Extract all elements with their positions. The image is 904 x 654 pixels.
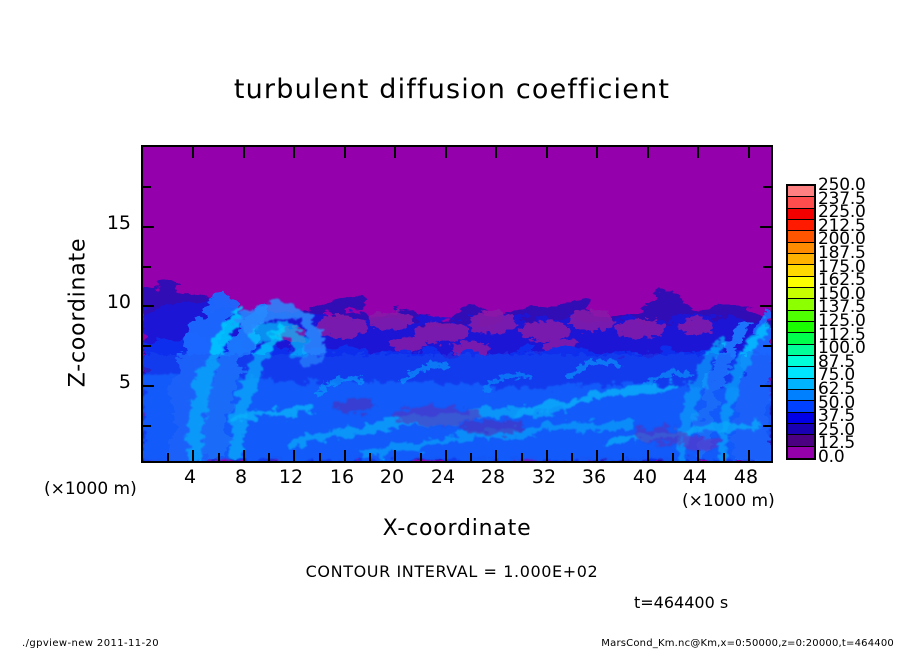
color-scale-swatch: [788, 401, 814, 412]
color-scale-swatch: [788, 220, 814, 231]
x-tick-top-12: [293, 147, 295, 158]
x-tick-minor-10: [268, 453, 270, 461]
color-scale-swatch: [788, 243, 814, 254]
x-tick-top-20: [394, 147, 396, 158]
z-tick-right-minor-2.5: [763, 425, 771, 427]
x-tick-minor-42: [672, 453, 674, 461]
color-scale-swatch: [788, 254, 814, 265]
x-tick-top-8: [243, 147, 245, 158]
contour-interval-note: CONTOUR INTERVAL = 1.000E+02: [0, 562, 904, 581]
x-tick-12: [293, 450, 295, 461]
color-scale-swatch: [788, 288, 814, 299]
x-tick-minor-34: [571, 453, 573, 461]
x-tick-minor-2: [167, 453, 169, 461]
page-title: turbulent diffusion coefficient: [0, 74, 904, 105]
x-tick-top-24: [445, 147, 447, 158]
x-tick-top-32: [546, 147, 548, 158]
x-tick-minor-14: [319, 453, 321, 461]
z-tick-15: [143, 226, 154, 228]
x-axis-tick-label: 48: [716, 466, 776, 488]
color-scale-swatch: [788, 277, 814, 288]
x-tick-top-40: [647, 147, 649, 158]
x-tick-28: [495, 450, 497, 461]
z-tick-right-10: [760, 305, 771, 307]
x-tick-36: [596, 450, 598, 461]
x-tick-top-28: [495, 147, 497, 158]
z-axis-unit: (×1000 m): [44, 479, 137, 499]
color-scale-swatch: [788, 299, 814, 310]
color-scale-swatch: [788, 322, 814, 333]
color-scale-swatch: [788, 435, 814, 446]
x-tick-20: [394, 450, 396, 461]
x-tick-minor-38: [622, 453, 624, 461]
x-axis-title: X-coordinate: [141, 516, 773, 541]
x-tick-top-16: [344, 147, 346, 158]
x-tick-8: [243, 450, 245, 461]
color-scale-bar: [786, 184, 816, 460]
color-scale-swatch: [788, 209, 814, 220]
x-tick-minor-26: [470, 453, 472, 461]
z-tick-right-minor-17.5: [763, 186, 771, 188]
z-tick-minor-17.5: [143, 186, 151, 188]
footer-source: MarsCond_Km.nc@Km,x=0:50000,z=0:20000,t=…: [601, 638, 894, 649]
x-axis-unit: (×1000 m): [682, 491, 775, 511]
turbulent-diffusion-field: [143, 147, 771, 461]
z-tick-5: [143, 385, 154, 387]
z-axis-tick-label: 15: [97, 212, 131, 234]
x-tick-32: [546, 450, 548, 461]
z-tick-minor-2.5: [143, 425, 151, 427]
z-axis-title: Z-coordinate: [66, 213, 91, 413]
x-tick-top-48: [748, 147, 750, 158]
time-stamp-note: t=464400 s: [634, 593, 728, 612]
color-scale-swatch: [788, 197, 814, 208]
x-tick-48: [748, 450, 750, 461]
color-scale-swatch: [788, 367, 814, 378]
color-scale-swatch: [788, 311, 814, 322]
color-scale-swatch: [788, 265, 814, 276]
color-scale-swatch: [788, 186, 814, 197]
x-tick-16: [344, 450, 346, 461]
z-tick-right-15: [760, 226, 771, 228]
color-scale-swatch: [788, 356, 814, 367]
x-tick-24: [445, 450, 447, 461]
x-tick-top-4: [192, 147, 194, 158]
x-tick-minor-22: [420, 453, 422, 461]
z-tick-minor-7.5: [143, 345, 151, 347]
x-tick-top-44: [697, 147, 699, 158]
color-scale-swatch: [788, 231, 814, 242]
x-tick-minor-30: [521, 453, 523, 461]
color-scale-swatch: [788, 413, 814, 424]
z-tick-minor-12.5: [143, 266, 151, 268]
color-scale-swatch: [788, 333, 814, 344]
plot-canvas: turbulent diffusion coefficient: [0, 0, 904, 654]
z-axis-tick-label: 10: [97, 291, 131, 313]
x-tick-40: [647, 450, 649, 461]
z-tick-right-minor-12.5: [763, 266, 771, 268]
x-tick-minor-18: [369, 453, 371, 461]
color-scale-tick-label: 0.0: [818, 447, 844, 467]
z-tick-10: [143, 305, 154, 307]
z-tick-right-minor-7.5: [763, 345, 771, 347]
x-tick-44: [697, 450, 699, 461]
color-scale-labels: 250.0237.5225.0212.5200.0187.5175.0162.5…: [818, 184, 888, 456]
color-scale-swatch: [788, 345, 814, 356]
z-tick-right-5: [760, 385, 771, 387]
footer-command: ./gpview-new 2011-11-20: [22, 638, 159, 649]
color-scale-swatch: [788, 424, 814, 435]
z-axis-tick-label: 5: [97, 371, 131, 393]
color-scale-swatch: [788, 447, 814, 458]
color-scale-swatch: [788, 390, 814, 401]
color-scale-swatch: [788, 379, 814, 390]
contour-plot-area: [141, 145, 773, 463]
x-tick-4: [192, 450, 194, 461]
x-tick-minor-46: [723, 453, 725, 461]
x-tick-minor-6: [218, 453, 220, 461]
x-tick-top-36: [596, 147, 598, 158]
